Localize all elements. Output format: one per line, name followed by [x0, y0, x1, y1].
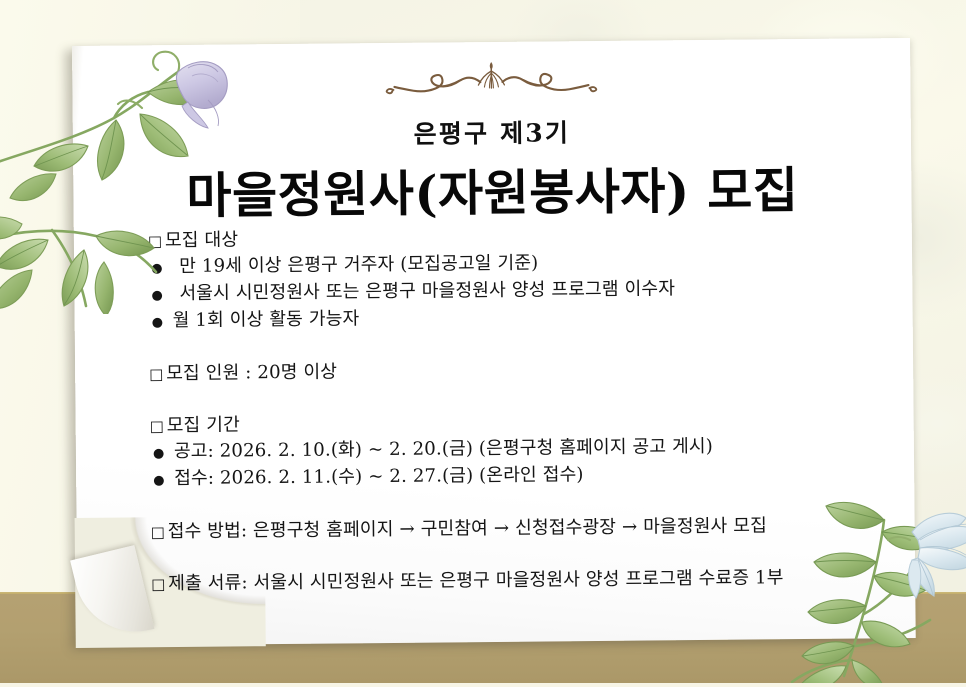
square-marker-icon: □ — [151, 520, 168, 545]
poster-body: □모집 대상●만 19세 이상 은평구 거주자 (모집공고일 기준)●서울시 시… — [148, 221, 898, 597]
section-heading-text: 모집 대상 — [165, 227, 238, 253]
bullet-item-text: 공고: 2026. 2. 10.(화) ~ 2. 20.(금) (은평구청 홈페… — [174, 434, 713, 464]
section-heading-text: 제출 서류: 서울시 시민정원사 또는 은평구 마을정원사 양성 프로그램 수료… — [168, 565, 784, 596]
filigree-ornament — [72, 54, 910, 108]
square-marker-icon: □ — [150, 414, 167, 439]
section-heading-text: 모집 인원 : 20명 이상 — [166, 359, 337, 386]
bullet-item-text: 만 19세 이상 은평구 거주자 (모집공고일 기준) — [172, 251, 538, 280]
section-heading-text: 모집 기간 — [167, 412, 240, 438]
bullet-item-text: 접수: 2026. 2. 11.(수) ~ 2. 27.(금) (온라인 접수) — [174, 462, 584, 491]
poster-title: 마을정원사(자원봉사자) 모집 — [73, 150, 912, 229]
square-marker-icon: □ — [148, 229, 165, 254]
bullet-dot-icon: ● — [148, 256, 172, 281]
square-marker-icon: □ — [151, 572, 168, 597]
poster-content: 은평구 제3기 마을정원사(자원봉사자) 모집 □모집 대상●만 19세 이상 … — [72, 38, 916, 646]
bullet-item-text: 월 1회 이상 활동 가능자 — [173, 306, 360, 333]
bullet-dot-icon: ● — [150, 441, 174, 466]
bullet-dot-icon: ● — [148, 283, 172, 308]
bullet-item-text: 서울시 시민정원사 또는 은평구 마을정원사 양성 프로그램 이수자 — [172, 276, 675, 306]
bullet-dot-icon: ● — [149, 310, 173, 335]
poster-section: □모집 기간●공고: 2026. 2. 10.(화) ~ 2. 20.(금) (… — [150, 406, 897, 493]
square-marker-icon: □ — [149, 362, 166, 387]
bullet-dot-icon: ● — [150, 468, 174, 493]
poster-subtitle: 은평구 제3기 — [73, 110, 911, 154]
poster-section: □모집 대상●만 19세 이상 은평구 거주자 (모집공고일 기준)●서울시 시… — [148, 221, 895, 335]
